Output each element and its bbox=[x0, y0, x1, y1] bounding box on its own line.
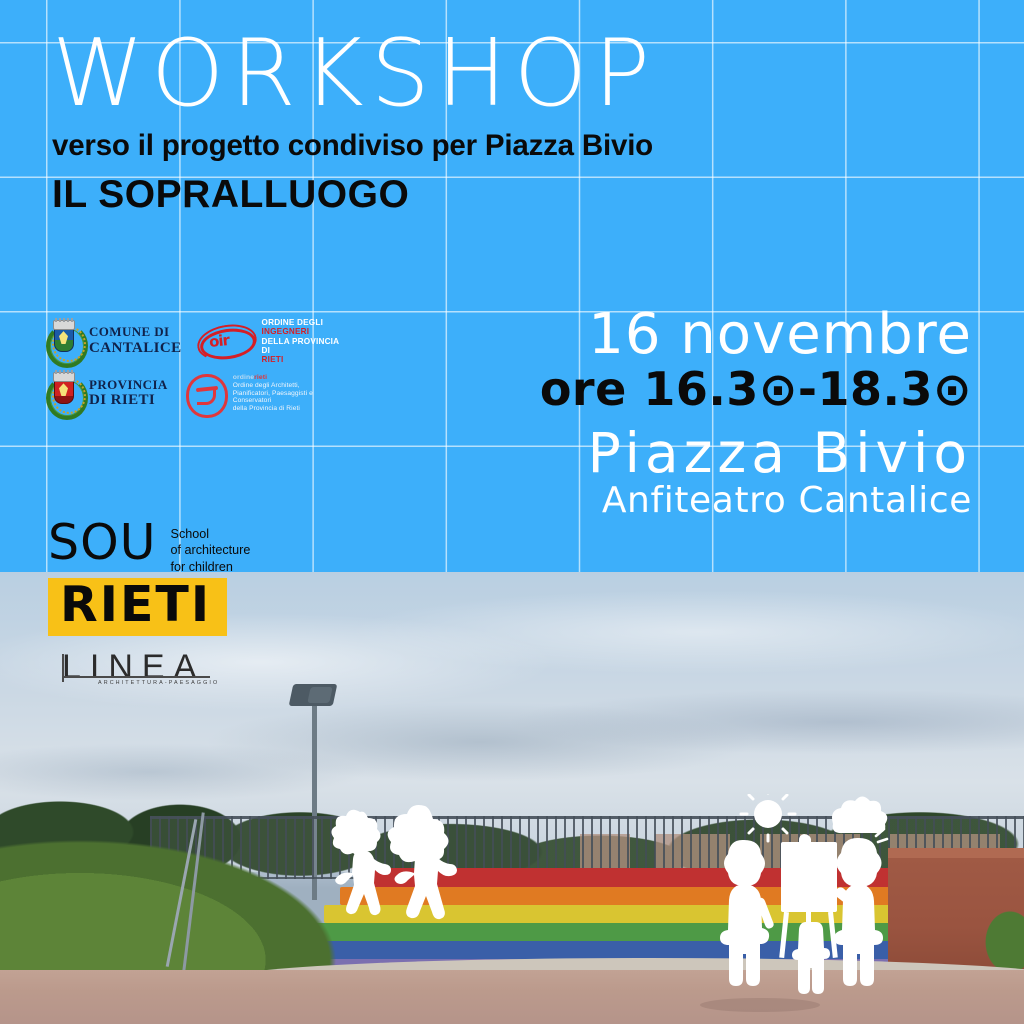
sou-tagline-3: for children bbox=[171, 559, 251, 575]
logo-row-2: PROVINCIA DI RIETI ordinerieti Ordine de… bbox=[46, 372, 346, 414]
headline-block: WORKSHOP verso il progetto condiviso per… bbox=[52, 28, 812, 214]
ingegneri-label: ORDINE DEGLI INGEGNERI DELLA PROVINCIA D… bbox=[262, 318, 346, 364]
sou-tagline-2: of architecture bbox=[171, 542, 251, 558]
event-date: 16 novembre bbox=[540, 306, 972, 364]
sou-wordmark: SOU bbox=[48, 520, 157, 565]
logo-row-1: COMUNE DI CANTALICE oir ORDINE DEGLI ING… bbox=[46, 318, 346, 364]
section-title: IL SOPRALLUOGO bbox=[52, 175, 812, 214]
linea-rule bbox=[62, 676, 210, 678]
event-place: Piazza Bivio bbox=[540, 425, 972, 481]
blue-header-panel: WORKSHOP verso il progetto condiviso per… bbox=[0, 0, 1024, 574]
ingegneri-line4: RIETI bbox=[262, 355, 346, 364]
sou-tagline: School of architecture for children bbox=[171, 526, 251, 575]
architetti-header-dim: ordine bbox=[233, 374, 254, 381]
oir-mark-label: oir bbox=[208, 331, 230, 351]
linea-logo: LINEA ARCHITETTURA-PAESAGGIO bbox=[62, 650, 210, 684]
partner-ordine-ingegneri: oir ORDINE DEGLI INGEGNERI DELLA PROVINC… bbox=[198, 318, 346, 364]
linea-subtitle: ARCHITETTURA-PAESAGGIO bbox=[98, 680, 219, 686]
provincia-crest-icon bbox=[46, 372, 80, 414]
partner-comune-cantalice: COMUNE DI CANTALICE bbox=[46, 320, 182, 362]
partner-ordine-architetti: ordinerieti Ordine degli Architetti, Pia… bbox=[184, 372, 346, 414]
page-subtitle: verso il progetto condiviso per Piazza B… bbox=[52, 131, 812, 162]
linea-wordmark: LINEA bbox=[62, 650, 210, 684]
rieti-badge: RIETI bbox=[48, 578, 227, 636]
silhouette-three-children-easel-icon bbox=[718, 794, 898, 1004]
ingegneri-line1: ORDINE DEGLI bbox=[262, 318, 346, 327]
architetti-line2: Pianificatori, Paesaggisti e Conservator… bbox=[233, 390, 346, 406]
comune-crest-icon bbox=[46, 320, 80, 362]
page-title: WORKSHOP bbox=[52, 28, 812, 119]
poster-root: WORKSHOP verso il progetto condiviso per… bbox=[0, 0, 1024, 1024]
architetti-header: ordinerieti bbox=[233, 374, 346, 382]
architetti-line3: della Provincia di Rieti bbox=[233, 405, 346, 413]
architetti-label: ordinerieti Ordine degli Architetti, Pia… bbox=[233, 374, 346, 413]
ingegneri-line2: INGEGNERI bbox=[262, 327, 346, 336]
ingegneri-line3: DELLA PROVINCIA DI bbox=[262, 337, 346, 356]
silhouette-two-children-icon bbox=[330, 804, 470, 934]
brand-block: SOU School of architecture for children … bbox=[48, 520, 308, 684]
comune-crest-label: COMUNE DI CANTALICE bbox=[89, 325, 182, 356]
comune-line2: CANTALICE bbox=[89, 340, 182, 357]
architetti-line1: Ordine degli Architetti, bbox=[233, 382, 346, 390]
partner-logos: COMUNE DI CANTALICE oir ORDINE DEGLI ING… bbox=[46, 318, 346, 422]
event-info-block: 16 novembre ore 16.3⊙-18.3⊙ Piazza Bivio… bbox=[540, 306, 972, 521]
provincia-crest-label: PROVINCIA DI RIETI bbox=[89, 378, 168, 409]
architetti-header-accent: rieti bbox=[254, 374, 267, 381]
oir-logo-icon: oir bbox=[198, 324, 254, 358]
provincia-line1: PROVINCIA bbox=[89, 378, 168, 393]
architetti-logo-icon bbox=[184, 372, 226, 414]
provincia-line2: DI RIETI bbox=[89, 392, 168, 409]
event-venue: Anfiteatro Cantalice bbox=[540, 481, 972, 521]
lamp-head-icon bbox=[289, 684, 338, 706]
comune-line1: COMUNE DI bbox=[89, 325, 182, 340]
partner-provincia-rieti: PROVINCIA DI RIETI bbox=[46, 372, 168, 414]
event-time: ore 16.3⊙-18.3⊙ bbox=[540, 364, 972, 416]
sou-line: SOU School of architecture for children bbox=[48, 520, 308, 575]
sou-tagline-1: School bbox=[171, 526, 251, 542]
rieti-wordmark: RIETI bbox=[60, 582, 211, 629]
